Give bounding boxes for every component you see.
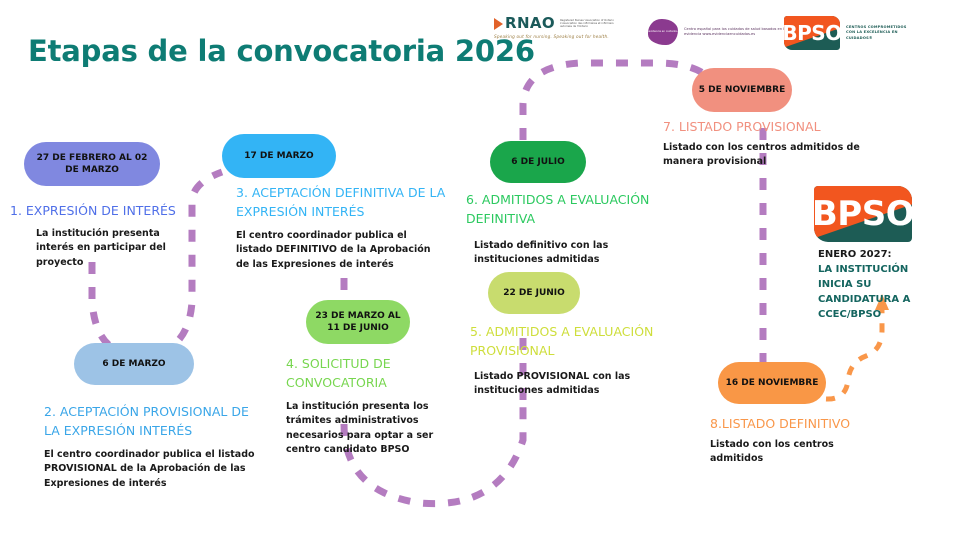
cec-blob-icon: evidencia en cuidados	[648, 19, 678, 45]
step-6-date-label: 6 DE JULIO	[511, 156, 565, 168]
rnao-subtitle: Registered Nurses' Association of Ontari…	[560, 19, 622, 29]
step-4-heading: 4. SOLICITUD DE CONVOCATORIA	[286, 354, 446, 393]
cec-blob-text: evidencia en cuidados	[649, 30, 678, 33]
step-8-body: Listado con los centros admitidos	[710, 438, 840, 467]
cec-text: Centro español para los cuidados de salu…	[684, 27, 788, 37]
step-3-date-pill: 17 DE MARZO	[222, 134, 336, 178]
step-8-date-pill: 16 DE NOVIEMBRE	[718, 362, 826, 404]
bpso-wordmark: BPSO	[784, 23, 840, 43]
step-7-body: Listado con los centros admitidos de man…	[663, 141, 863, 170]
rnao-tagline: Speaking out for nursing. Speaking out f…	[494, 34, 622, 39]
step-3-body: El centro coordinador publica el listado…	[236, 229, 432, 272]
final-note: ENERO 2027: LA INSTITUCIÓN INICIA SU CAN…	[818, 247, 938, 322]
bpso-wordmark-large: BPSO	[814, 197, 912, 231]
rnao-wordmark: RNAO	[505, 16, 555, 31]
step-4-date-pill: 23 DE MARZO AL 11 DE JUNIO	[306, 300, 410, 344]
step-5-date-label: 22 DE JUNIO	[503, 287, 565, 299]
step-7-date-pill: 5 DE NOVIEMBRE	[692, 68, 792, 112]
bpso-flag-icon-large: BPSO	[814, 186, 912, 242]
bpso-logo-top: BPSO CENTROS COMPROMETIDOS CON LA EXCELE…	[784, 14, 914, 52]
rnao-arrow-icon	[494, 18, 503, 30]
step-1-heading: 1. EXPRESIÓN DE INTERÉS	[10, 201, 220, 220]
step-5-body: Listado PROVISIONAL con las institucione…	[474, 370, 656, 399]
connector-1-to-2	[92, 262, 134, 355]
final-note-date: ENERO 2027:	[818, 247, 938, 262]
step-3-date-label: 17 DE MARZO	[244, 150, 313, 162]
bpso-flag-icon: BPSO	[784, 16, 840, 50]
page-title: Etapas de la convocatoria 2026	[28, 34, 535, 68]
rnao-logo: RNAO Registered Nurses' Association of O…	[494, 16, 622, 48]
step-6-date-pill: 6 DE JULIO	[490, 141, 586, 183]
step-1-date-pill: 27 DE FEBRERO AL 02 DE MARZO	[24, 142, 160, 186]
step-7-heading: 7. LISTADO PROVISIONAL	[663, 117, 893, 136]
step-8-heading: 8.LISTADO DEFINITIVO	[710, 414, 910, 433]
bpso-claim: CENTROS COMPROMETIDOS CON LA EXCELENCIA …	[846, 25, 914, 41]
step-3-heading: 3. ACEPTACIÓN DEFINITIVA DE LA EXPRESIÓN…	[236, 183, 466, 222]
step-7-date-label: 5 DE NOVIEMBRE	[699, 84, 785, 96]
infographic-canvas: Etapas de la convocatoria 2026 RNAO Regi…	[0, 0, 960, 540]
step-2-body: El centro coordinador publica el listado…	[44, 448, 266, 491]
step-2-date-label: 6 DE MARZO	[102, 358, 165, 370]
logo-strip: RNAO Registered Nurses' Association of O…	[494, 12, 914, 56]
step-4-body: La institución presenta los trámites adm…	[286, 400, 450, 457]
step-5-heading: 5. ADMITIDOS A EVALUACIÓN PROVISIONAL	[470, 322, 670, 361]
step-1-date-label: 27 DE FEBRERO AL 02 DE MARZO	[30, 152, 154, 176]
step-2-heading: 2. ACEPTACIÓN PROVISIONAL DE LA EXPRESIÓ…	[44, 402, 266, 441]
step-8-date-label: 16 DE NOVIEMBRE	[726, 377, 819, 389]
step-5-date-pill: 22 DE JUNIO	[488, 272, 580, 314]
bpso-logo-final: BPSO	[814, 186, 914, 244]
step-2-date-pill: 6 DE MARZO	[74, 343, 194, 385]
centro-espanol-logo: evidencia en cuidados Centro español par…	[648, 16, 788, 48]
step-6-body: Listado definitivo con las instituciones…	[474, 239, 654, 268]
step-6-heading: 6. ADMITIDOS A EVALUACIÓN DEFINITIVA	[466, 190, 656, 229]
step-1-body: La institución presenta interés en parti…	[36, 227, 194, 270]
final-note-text: LA INSTITUCIÓN INICIA SU CANDIDATURA A C…	[818, 262, 938, 322]
step-4-date-label: 23 DE MARZO AL 11 DE JUNIO	[312, 310, 404, 334]
